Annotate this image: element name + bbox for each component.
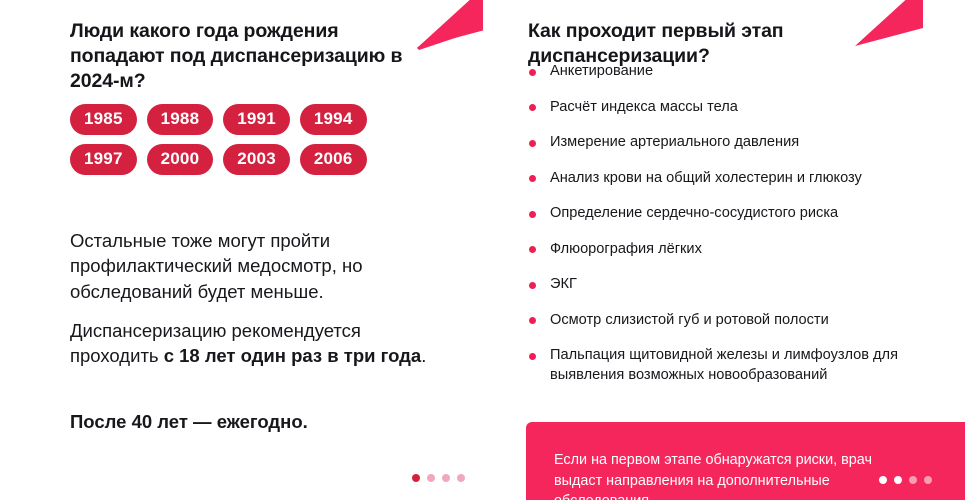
list-item: Флюорография лёгких <box>529 240 949 260</box>
year-badge: 1988 <box>147 104 214 135</box>
list-item-label: Анализ крови на общий холестерин и глюко… <box>550 170 862 186</box>
pagination-dots-left[interactable] <box>412 474 465 482</box>
birth-year-badge-group: 1985 1988 1991 1994 1997 2000 2003 2006 <box>70 104 410 175</box>
bullet-dot-icon <box>529 175 536 182</box>
list-item: Измерение артериального давления <box>529 133 949 153</box>
bullet-dot-icon <box>529 317 536 324</box>
pagination-dots-right[interactable] <box>879 476 932 484</box>
bullet-dot-icon <box>529 104 536 111</box>
body-paragraph-preventive-checkup: Остальные тоже могут пройти профилактиче… <box>70 228 440 305</box>
pagination-dot[interactable] <box>879 476 887 484</box>
list-item-label: Пальпация щитовидной железы и лимфоузлов… <box>550 347 898 383</box>
callout-box: Если на первом этапе обнаружатся риски, … <box>526 422 965 500</box>
pagination-dot[interactable] <box>427 474 435 482</box>
list-item: Анализ крови на общий холестерин и глюко… <box>529 169 949 189</box>
year-badge: 1994 <box>300 104 367 135</box>
list-item-label: Флюорография лёгких <box>550 241 702 257</box>
pagination-dot[interactable] <box>442 474 450 482</box>
list-item-label: Измерение артериального давления <box>550 134 799 150</box>
pagination-dot[interactable] <box>894 476 902 484</box>
year-badge: 2006 <box>300 144 367 175</box>
slide-first-stage: Как проходит первый этап диспансеризации… <box>497 0 965 500</box>
bullet-dot-icon <box>529 353 536 360</box>
year-badge: 1997 <box>70 144 137 175</box>
list-item: Определение сердечно-сосудистого риска <box>529 204 949 224</box>
list-item: Расчёт индекса массы тела <box>529 98 949 118</box>
list-item: Пальпация щитовидной железы и лимфоузлов… <box>529 346 949 385</box>
slide-birth-years: Люди какого года рождения попадают под д… <box>0 0 483 500</box>
slide-deck: Люди какого года рождения попадают под д… <box>0 0 965 500</box>
pagination-dot[interactable] <box>457 474 465 482</box>
bullet-dot-icon <box>529 282 536 289</box>
frequency-text-emphasis: с 18 лет один раз в три года <box>164 345 421 366</box>
list-item: Осмотр слизистой губ и ротовой полости <box>529 311 949 331</box>
body-paragraph-after-forty: После 40 лет — ежегодно. <box>70 409 440 435</box>
pagination-dot[interactable] <box>412 474 420 482</box>
list-item-label: Осмотр слизистой губ и ротовой полости <box>550 312 829 328</box>
bullet-dot-icon <box>529 246 536 253</box>
list-item-label: Анкетирование <box>550 63 653 79</box>
pagination-dot[interactable] <box>924 476 932 484</box>
bullet-dot-icon <box>529 211 536 218</box>
year-badge: 2000 <box>147 144 214 175</box>
frequency-text-suffix: . <box>421 345 426 366</box>
list-item-label: ЭКГ <box>550 276 577 292</box>
bullet-dot-icon <box>529 69 536 76</box>
list-item-label: Определение сердечно-сосудистого риска <box>550 205 838 221</box>
year-badge: 2003 <box>223 144 290 175</box>
list-item: Анкетирование <box>529 62 949 82</box>
callout-text: Если на первом этапе обнаружатся риски, … <box>554 450 914 500</box>
year-badge: 1985 <box>70 104 137 135</box>
body-paragraph-frequency: Диспансеризацию рекомендуется проходить … <box>70 318 440 369</box>
procedure-list: Анкетирование Расчёт индекса массы тела … <box>529 62 949 385</box>
pagination-dot[interactable] <box>909 476 917 484</box>
slide-gutter <box>483 0 497 500</box>
list-item-label: Расчёт индекса массы тела <box>550 99 738 115</box>
list-item: ЭКГ <box>529 275 949 295</box>
bullet-dot-icon <box>529 140 536 147</box>
year-badge: 1991 <box>223 104 290 135</box>
page-title: Люди какого года рождения попадают под д… <box>70 19 420 94</box>
